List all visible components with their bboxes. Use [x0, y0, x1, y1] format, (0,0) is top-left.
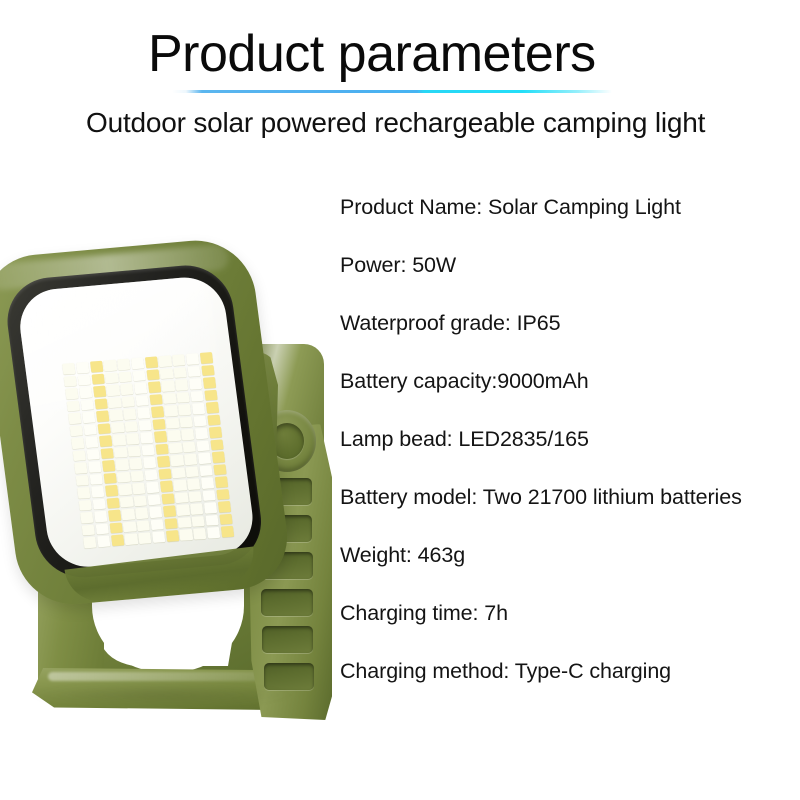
led-chip [176, 504, 189, 516]
led-chip [189, 378, 202, 390]
led-chip [67, 400, 80, 412]
led-chip [179, 529, 192, 541]
led-chip [186, 466, 199, 478]
led-chip [73, 450, 86, 462]
led-chip [125, 421, 138, 433]
led-chip [70, 425, 83, 437]
spec-row: Charging time: 7h [340, 584, 800, 642]
led-chip [120, 383, 133, 395]
led-chip [198, 452, 211, 464]
ratchet-notch [261, 589, 313, 616]
led-chip [90, 361, 103, 373]
led-chip [91, 486, 104, 498]
led-chip [85, 436, 98, 448]
led-chip [215, 476, 228, 488]
led-chip [173, 479, 186, 491]
led-chip [161, 493, 174, 505]
spec-row: Battery model: Two 21700 lithium batteri… [340, 468, 800, 526]
led-chip [109, 522, 122, 534]
led-chip [138, 420, 151, 432]
led-chip [100, 448, 113, 460]
led-chip [86, 449, 99, 461]
led-chip [132, 483, 145, 495]
led-chip [192, 403, 205, 415]
product-parameters-page: Product parameters Outdoor solar powered… [0, 0, 800, 800]
led-chip [166, 530, 179, 542]
led-chip [143, 457, 156, 469]
led-chip [109, 409, 122, 421]
led-chip [111, 534, 124, 546]
led-chip [140, 432, 153, 444]
title-underline-divider [172, 90, 612, 93]
led-chip-grid [62, 352, 234, 548]
led-chip [88, 461, 101, 473]
led-chip [123, 521, 136, 533]
led-chip [105, 372, 118, 384]
led-chip [135, 507, 148, 519]
led-chip [210, 439, 223, 451]
led-chip [123, 408, 136, 420]
led-chip [149, 394, 162, 406]
led-chip [105, 485, 118, 497]
led-chip [169, 442, 182, 454]
led-chip [111, 422, 124, 434]
spec-row: Charging method: Type-C charging [340, 642, 800, 700]
led-chip [196, 440, 209, 452]
led-chip [207, 527, 220, 539]
led-chip [106, 497, 119, 509]
led-chip [209, 427, 222, 439]
led-chip [186, 353, 199, 365]
led-chip [144, 469, 157, 481]
led-chip [77, 487, 90, 499]
led-chip [192, 516, 205, 528]
led-chip [96, 410, 109, 422]
led-chip [181, 429, 194, 441]
led-chip [183, 441, 196, 453]
led-chip [200, 352, 213, 364]
led-chip [189, 491, 202, 503]
led-chip [172, 467, 185, 479]
led-chip [122, 396, 135, 408]
led-chip [128, 445, 141, 457]
led-chip [221, 526, 234, 538]
led-chip [172, 354, 185, 366]
led-chip [114, 447, 127, 459]
led-chip [154, 431, 167, 443]
led-chip [164, 405, 177, 417]
led-chip [76, 475, 89, 487]
led-chip [205, 514, 218, 526]
ratchet-notch [262, 626, 313, 653]
led-chip [175, 379, 188, 391]
led-chip [187, 366, 200, 378]
led-chip [112, 434, 125, 446]
header: Product parameters Outdoor solar powered… [0, 0, 800, 150]
led-chip [174, 367, 187, 379]
led-chip [203, 377, 216, 389]
led-chip [115, 459, 128, 471]
led-chip [190, 390, 203, 402]
led-chip [201, 477, 214, 489]
led-chip [163, 505, 176, 517]
led-chip [152, 418, 165, 430]
led-chip [117, 471, 130, 483]
led-chip [141, 444, 154, 456]
page-subtitle: Outdoor solar powered rechargeable campi… [86, 104, 705, 142]
led-chip [117, 359, 130, 371]
led-chip [206, 402, 219, 414]
spec-row: Product Name: Solar Camping Light [340, 178, 800, 236]
led-chip [199, 465, 212, 477]
led-chip [82, 411, 95, 423]
led-chip [137, 520, 150, 532]
led-chip [207, 414, 220, 426]
led-chip [164, 518, 177, 530]
led-chip [62, 363, 75, 375]
led-chip [158, 468, 171, 480]
led-chip [124, 533, 137, 545]
led-chip [204, 389, 217, 401]
led-chip [170, 455, 183, 467]
led-chip [157, 456, 170, 468]
led-chip [187, 478, 200, 490]
led-chip [193, 528, 206, 540]
led-chip [92, 498, 105, 510]
led-chip [219, 513, 232, 525]
led-chip [147, 494, 160, 506]
led-chip [95, 523, 108, 535]
led-chip [65, 388, 78, 400]
led-chip [204, 502, 217, 514]
led-chip [118, 484, 131, 496]
led-chip [151, 406, 164, 418]
led-chip [80, 512, 93, 524]
led-chip [184, 454, 197, 466]
page-title: Product parameters [148, 24, 596, 84]
led-chip [121, 509, 134, 521]
led-chip [129, 458, 142, 470]
led-chip [131, 357, 144, 369]
led-chip [161, 380, 174, 392]
led-chip [163, 393, 176, 405]
led-chip [138, 532, 151, 544]
led-chip [190, 503, 203, 515]
led-chip [76, 362, 89, 374]
led-chip [74, 462, 87, 474]
contact-shadow [30, 684, 292, 706]
led-chip [68, 413, 81, 425]
led-chip [213, 464, 226, 476]
led-chip [155, 443, 168, 455]
led-chip [149, 506, 162, 518]
led-chip [103, 360, 116, 372]
led-chip [99, 435, 112, 447]
led-chip [145, 356, 158, 368]
led-chip [152, 531, 165, 543]
led-chip [178, 517, 191, 529]
led-chip [131, 470, 144, 482]
led-chip [97, 423, 110, 435]
led-chip [71, 437, 84, 449]
led-chip [64, 375, 77, 387]
led-chip [167, 430, 180, 442]
specification-list: Product Name: Solar Camping LightPower: … [340, 178, 800, 700]
led-chip [83, 537, 96, 549]
led-chip [201, 364, 214, 376]
led-chip [218, 501, 231, 513]
led-chip [160, 481, 173, 493]
led-chip [119, 371, 132, 383]
led-chip [108, 510, 121, 522]
led-chip [146, 482, 159, 494]
led-chip [137, 407, 150, 419]
lamp-diffuser-face [15, 274, 257, 570]
led-chip [146, 369, 159, 381]
spec-row: Power: 50W [340, 236, 800, 294]
led-chip [216, 489, 229, 501]
led-chip [195, 428, 208, 440]
led-chip [158, 355, 171, 367]
led-chip [150, 519, 163, 531]
led-chip [132, 370, 145, 382]
led-chip [160, 368, 173, 380]
led-chip [202, 490, 215, 502]
led-chip [89, 474, 102, 486]
led-chip [93, 386, 106, 398]
led-chip [103, 472, 116, 484]
led-chip [97, 536, 110, 548]
led-chip [166, 417, 179, 429]
led-chip [94, 398, 107, 410]
stand-foot-highlight [48, 672, 278, 681]
led-chip [148, 381, 161, 393]
led-chip [134, 495, 147, 507]
led-chip [135, 395, 148, 407]
led-chip [82, 524, 95, 536]
led-chip [79, 499, 92, 511]
led-chip [79, 387, 92, 399]
led-chip [120, 496, 133, 508]
led-chip [212, 451, 225, 463]
spec-row: Weight: 463g [340, 526, 800, 584]
led-chip [126, 433, 139, 445]
spec-row: Lamp bead: LED2835/165 [340, 410, 800, 468]
spec-row: Waterproof grade: IP65 [340, 294, 800, 352]
led-chip [80, 399, 93, 411]
led-chip [106, 384, 119, 396]
led-chip [91, 373, 104, 385]
product-image-solar-camping-light [0, 232, 340, 720]
spec-row: Battery capacity:9000mAh [340, 352, 800, 410]
led-chip [94, 511, 107, 523]
led-chip [108, 397, 121, 409]
led-chip [175, 492, 188, 504]
led-chip [77, 374, 90, 386]
led-chip [177, 391, 190, 403]
led-chip [178, 404, 191, 416]
led-chip [180, 416, 193, 428]
led-chip [193, 415, 206, 427]
led-chip [134, 382, 147, 394]
led-chip [102, 460, 115, 472]
led-chip [83, 424, 96, 436]
